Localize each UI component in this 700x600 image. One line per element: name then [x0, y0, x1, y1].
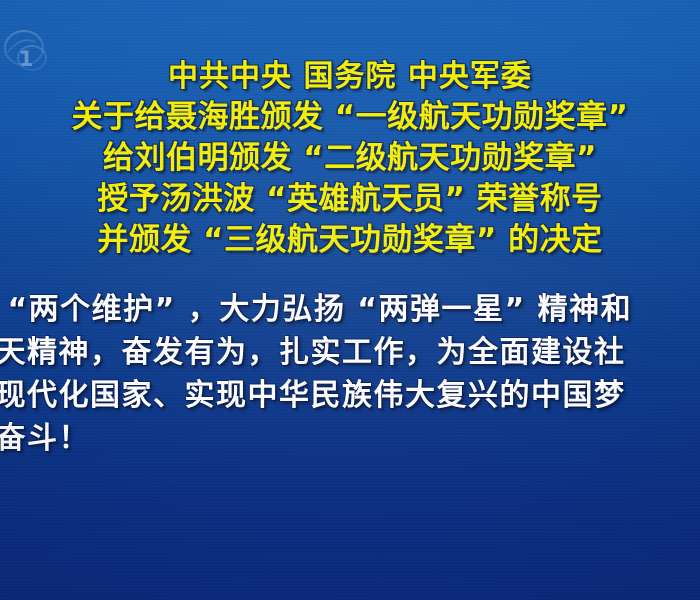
body-line-1: 到 “两个维护” ，大力弘扬 “两弹一星” 精神和: [0, 288, 700, 331]
headline-line-4: 授予汤洪波 “英雄航天员” 荣誉称号: [0, 179, 700, 220]
channel-number-label: 1: [19, 47, 34, 71]
body-line-3: 义现代化国家、实现中华民族伟大复兴的中国梦: [0, 374, 700, 417]
decree-headline: 中共中央 国务院 中央军委 关于给聂海胜颁发 “一级航天功勋奖章” 给刘伯明颁发…: [0, 56, 700, 261]
channel-1-watermark-icon: 1: [2, 26, 58, 74]
body-line-2: 航天精神，奋发有为，扎实工作，为全面建设社: [0, 331, 700, 374]
broadcast-screen: 1 中共中央 国务院 中央军委 关于给聂海胜颁发 “一级航天功勋奖章” 给刘伯明…: [0, 0, 700, 600]
decree-body-text: 到 “两个维护” ，大力弘扬 “两弹一星” 精神和 航天精神，奋发有为，扎实工作…: [0, 288, 700, 460]
headline-line-5: 并颁发 “三级航天功勋奖章” 的决定: [0, 220, 700, 261]
headline-line-3: 给刘伯明颁发 “二级航天功勋奖章”: [0, 138, 700, 179]
body-line-4: 懈奋斗！: [0, 417, 700, 460]
headline-line-2: 关于给聂海胜颁发 “一级航天功勋奖章”: [0, 97, 700, 138]
headline-line-1: 中共中央 国务院 中央军委: [0, 56, 700, 97]
